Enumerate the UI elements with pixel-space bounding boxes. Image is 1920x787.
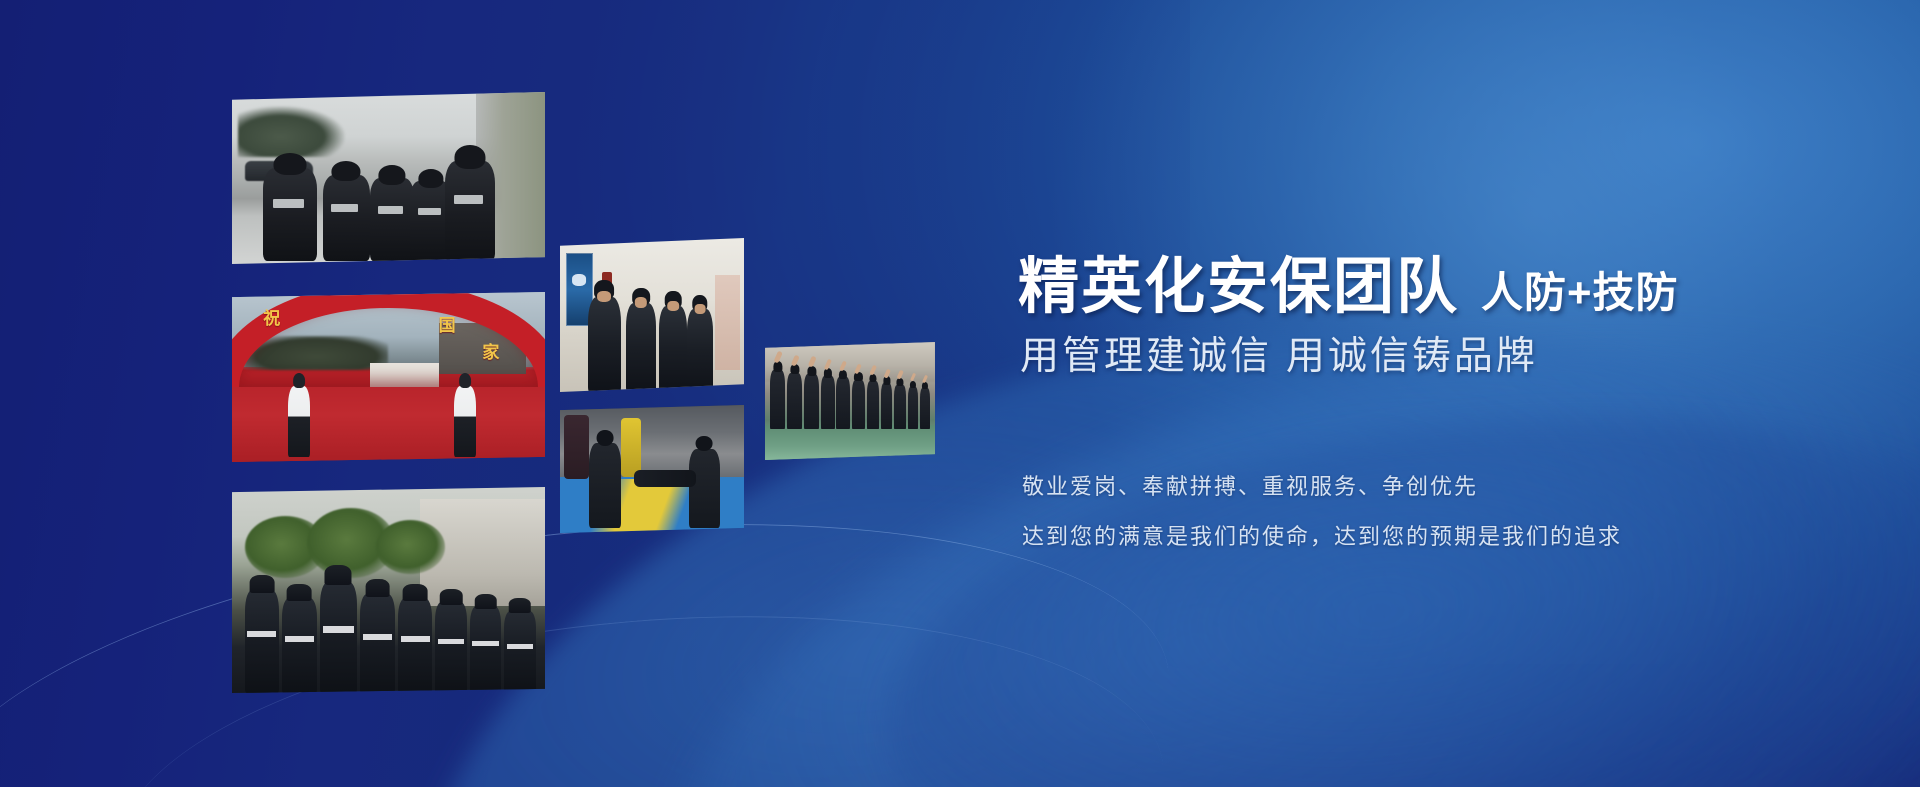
arch-glyph: 家 [482,338,499,363]
saluting-figure [852,380,866,430]
saluting-figure [920,388,930,429]
headline-main-text: 精英化安保团队 [1018,236,1459,325]
headline: 精英化安保团队 人防+技防 [1018,236,1679,325]
arch-glyph: 国 [439,311,456,336]
headline-sub-text: 人防+技防 [1481,259,1679,320]
banner-text-block: 精英化安保团队 人防+技防 用管理建诚信 用诚信铸品牌 敬业爱岗、奉献拼搏、重视… [1018,0,1878,787]
topiary-shape [376,520,445,574]
door-shape [715,275,741,370]
body-text-group: 敬业爱岗、奉献拼搏、重视服务、争创优先 达到您的满意是我们的使命，达到您的预期是… [1022,462,1622,562]
saluting-figure [867,381,879,429]
punching-bag-shape [564,415,590,479]
photo-collage: 祝 国 家 [0,0,1000,787]
saluting-figure [894,385,906,430]
saluting-figure [804,374,819,429]
officer-figure [282,598,316,693]
scene-dress-uniform-formation [232,487,545,693]
officer-figure [504,611,535,693]
field-shape [765,425,935,460]
face-shape [597,291,611,302]
guard-figure [659,306,687,392]
body-line: 达到您的满意是我们的使命，达到您的预期是我们的追求 [1022,512,1622,562]
arch-glyph: 祝 [263,304,280,329]
saluting-figure [787,373,802,430]
saluting-figure [770,370,785,429]
scene-red-arch-ceremony: 祝 国 家 [232,292,545,462]
saluting-figure [836,377,850,429]
subtitle-text: 用管理建诚信 用诚信铸品牌 [1020,325,1538,381]
tree-shape [238,106,344,158]
trainee-figure [689,449,720,528]
officer-figure [470,606,501,693]
photo-indoor-hallway-team [560,238,744,392]
saluting-figure [908,387,918,429]
guard-figure [323,175,370,261]
kicking-leg-shape [634,470,697,487]
officer-figure [398,598,432,693]
guard-figure [263,168,316,261]
guard-white-shirt [288,386,310,457]
guard-figure [445,161,495,261]
photo-dress-uniform-formation [232,487,545,693]
guard-figure [588,297,621,392]
saluting-figure [881,383,893,429]
face-shape [635,297,647,308]
screen-graphic [572,274,586,285]
officer-figure [360,594,394,693]
photo-martial-arts-training [560,405,744,533]
photo-red-arch-ceremony: 祝 国 家 [232,292,545,462]
punching-bag-shape [621,418,641,477]
officer-figure [245,590,279,693]
photo-marching-squad [232,92,545,264]
guard-figure [626,303,655,392]
photo-field-salute-line [765,342,935,460]
officer-figure [320,582,358,693]
guard-figure [370,178,414,261]
guard-white-shirt [454,386,476,457]
scene-indoor-hallway-team [560,238,744,392]
security-team-hero-banner: 祝 国 家 [0,0,1920,787]
face-shape [667,301,679,311]
scene-marching-squad [232,92,545,264]
officer-figure [435,602,466,693]
face-shape [694,304,705,314]
scene-martial-arts-training [560,405,744,533]
red-carpet-shape [232,384,545,462]
guard-figure [687,309,713,392]
scene-field-salute-line [765,342,935,460]
body-line: 敬业爱岗、奉献拼搏、重视服务、争创优先 [1022,462,1622,512]
saluting-figure [821,376,835,429]
trainee-figure [589,443,620,527]
